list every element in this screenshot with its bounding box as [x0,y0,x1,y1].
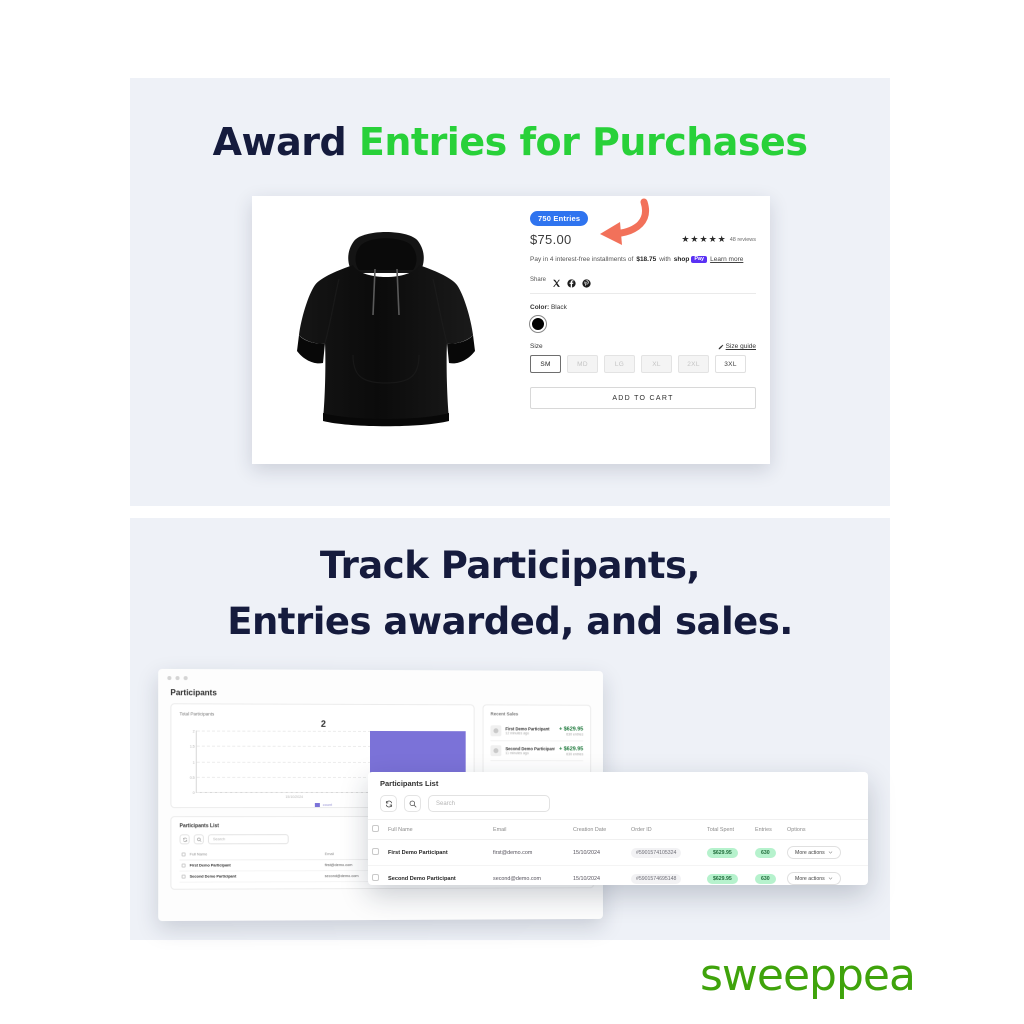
sale-amount: + $629.95 [559,726,583,732]
product-card: 750 Entries $75.00 ★★★★★ 48 reviews Pay … [252,196,770,464]
search-icon[interactable] [404,795,421,812]
color-value: Black [549,304,567,311]
installments-with: with [659,255,671,264]
sale-entries: 630 entries [559,732,583,736]
cell-total-spent: $629.95 [703,840,751,866]
participants-list-modal: Participants List Search Full Name Email… [368,772,868,885]
table-header-row: Full Name Email Creation Date Order ID T… [368,820,868,840]
cell-full-name: Second Demo Participant [384,866,489,886]
add-to-cart-button[interactable]: ADD TO CART [530,387,756,409]
size-option-sm[interactable]: SM [530,355,561,373]
color-label: Color: Black [530,304,756,311]
row-checkbox[interactable] [368,866,384,886]
pinterest-icon[interactable] [582,275,591,284]
total-spent-badge: $629.95 [707,874,738,884]
legend-swatch-count [315,803,320,807]
more-actions-label: More actions [795,850,825,856]
search-input[interactable]: Search [428,795,550,812]
table-row[interactable]: Second Demo Participant second@demo.com … [368,866,868,886]
col-email: Email [489,820,569,840]
avatar [490,725,501,736]
cell-creation-date: 15/10/2024 [569,840,627,866]
cell-options: More actions [783,840,868,866]
headline-top-part1: Award [213,120,359,164]
cell-order-id: #5901574695148 [627,866,703,886]
size-option-3xl[interactable]: 3XL [715,355,746,373]
y-tick-0: 0 [193,791,195,795]
row-checkbox[interactable] [368,840,384,866]
y-tick-1-5: 1.5 [190,745,195,749]
headline-top-part2: Entries for Purchases [359,120,808,164]
y-tick-0-5: 0.5 [190,776,195,780]
color-selector: Color: Black [530,304,756,332]
cell-options: More actions [783,866,868,886]
entries-badge: 630 [755,874,776,884]
chevron-down-icon [828,876,833,881]
recent-sale-item[interactable]: First Demo Participant 12 minutes ago + … [490,721,583,741]
total-spent-badge: $629.95 [707,848,738,858]
pencil-icon [718,344,724,350]
col-full-name: Full Name [384,820,489,840]
share-row: Share [530,275,756,294]
installment-amount: $18.75 [636,255,656,264]
entries-badge: 630 [755,848,776,858]
headline-bottom-line1: Track Participants, [130,538,890,594]
cell-email: first@demo.com [489,840,569,866]
size-guide-link[interactable]: Size guide [718,343,756,350]
size-option-xl[interactable]: XL [641,355,672,373]
cell-full-name: First Demo Participant [384,840,489,866]
cell-entries: 630 [751,840,783,866]
order-id-pill: #5901574695148 [631,874,681,884]
col-entries: Entries [751,820,783,840]
recent-sales-title: Recent Sales [490,711,583,716]
modal-title: Participants List [380,779,856,788]
learn-more-link[interactable]: Learn more [710,255,743,264]
modal-toolbar: Search [368,790,868,819]
size-options: SM MD LG XL 2XL 3XL [530,355,756,373]
black-hoodie-photo [291,223,481,438]
star-rating-icon: ★★★★★ [681,234,726,245]
size-guide-label: Size guide [726,343,756,350]
poster-canvas: Award Entries for Purchases [0,0,1024,1024]
sale-info: First Demo Participant 12 minutes ago [505,726,555,735]
window-dot-close[interactable] [167,676,171,680]
checkbox[interactable] [182,864,186,868]
checkbox[interactable] [182,852,186,856]
cell-creation-date: 15/10/2024 [569,866,627,886]
share-label: Share [530,277,546,283]
sale-amount: + $629.95 [559,746,583,752]
coral-curved-arrow-icon [572,198,652,250]
row-checkbox[interactable] [180,860,188,871]
cell-full-name: First Demo Participant [188,860,323,871]
sale-entries: 630 entries [559,752,583,756]
y-tick-2: 2 [193,730,195,734]
sale-info: Second Demo Participant 11 minutes ago [505,746,555,755]
cell-total-spent: $629.95 [703,866,751,886]
headline-bottom-line2: Entries awarded, and sales. [130,594,890,650]
sale-amount-group: + $629.95 630 entries [559,746,583,756]
size-label: Size [530,343,543,350]
x-tick-label: 15/10/2024 [285,795,303,799]
col-creation-date: Creation Date [569,820,627,840]
facebook-icon[interactable] [567,275,576,284]
sweeppea-logo: sweeppea [700,948,940,1004]
y-tick-1: 1 [193,760,195,764]
color-label-text: Color: [530,304,549,311]
headline-award-entries: Award Entries for Purchases [130,118,890,166]
search-icon[interactable] [194,834,204,844]
chevron-down-icon [828,850,833,855]
more-actions-label: More actions [795,876,825,882]
size-header: Size Size guide [530,343,756,350]
col-options: Options [783,820,868,840]
product-price: $75.00 [530,232,572,247]
product-image-area [252,196,520,464]
sale-timestamp: 12 minutes ago [505,731,555,735]
order-id-pill: #5901574105324 [631,848,681,858]
window-dot-maximize[interactable] [184,676,188,680]
sale-amount-group: + $629.95 630 entries [559,726,583,736]
cell-full-name: Second Demo Participant [188,871,323,882]
svg-text:sweeppea: sweeppea [700,950,915,1001]
participants-table: Full Name Email Creation Date Order ID T… [368,819,868,885]
select-all-checkbox[interactable] [180,849,188,860]
col-total-spent: Total Spent [703,820,751,840]
window-dot-minimize[interactable] [175,676,179,680]
refresh-icon[interactable] [180,834,190,844]
cell-entries: 630 [751,866,783,886]
review-count: 48 reviews [730,237,756,243]
row-checkbox[interactable] [180,871,188,882]
black-swatch[interactable] [530,316,546,332]
col-order-id: Order ID [627,820,703,840]
sale-timestamp: 11 minutes ago [505,751,555,755]
cell-order-id: #5901574105324 [627,840,703,866]
search-input[interactable]: Search [208,834,289,844]
size-option-2xl[interactable]: 2XL [678,355,709,373]
more-actions-button[interactable]: More actions [787,872,841,885]
refresh-icon[interactable] [380,795,397,812]
avatar [490,745,501,756]
size-option-md[interactable]: MD [567,355,598,373]
modal-header: Participants List [368,772,868,790]
chart-bar-value-label: 2 [180,718,466,729]
col-full-name: Full Name [188,849,323,860]
installments-note: Pay in 4 interest-free installments of $… [530,255,756,264]
installments-prefix: Pay in 4 interest-free installments of [530,255,633,264]
dashboard-page-title: Participants [170,688,591,699]
checkbox[interactable] [372,825,379,832]
more-actions-button[interactable]: More actions [787,846,841,859]
headline-track-participants: Track Participants, Entries awarded, and… [130,538,890,650]
cell-email: second@demo.com [489,866,569,886]
checkbox[interactable] [182,875,186,879]
select-all-checkbox[interactable] [368,820,384,840]
shop-pay-logo: shop Pay [674,255,707,264]
shop-pay-word: shop [674,255,690,264]
size-option-lg[interactable]: LG [604,355,635,373]
chart-title: Total Participants [180,711,466,717]
x-icon[interactable] [552,275,561,284]
shop-pay-chip: Pay [691,256,707,264]
recent-sale-item[interactable]: Second Demo Participant 11 minutes ago +… [490,741,583,761]
checkbox[interactable] [372,874,379,881]
table-row[interactable]: First Demo Participant first@demo.com 15… [368,840,868,866]
rating-group: ★★★★★ 48 reviews [681,234,756,245]
legend-label-count: count [323,803,332,807]
checkbox[interactable] [372,848,379,855]
